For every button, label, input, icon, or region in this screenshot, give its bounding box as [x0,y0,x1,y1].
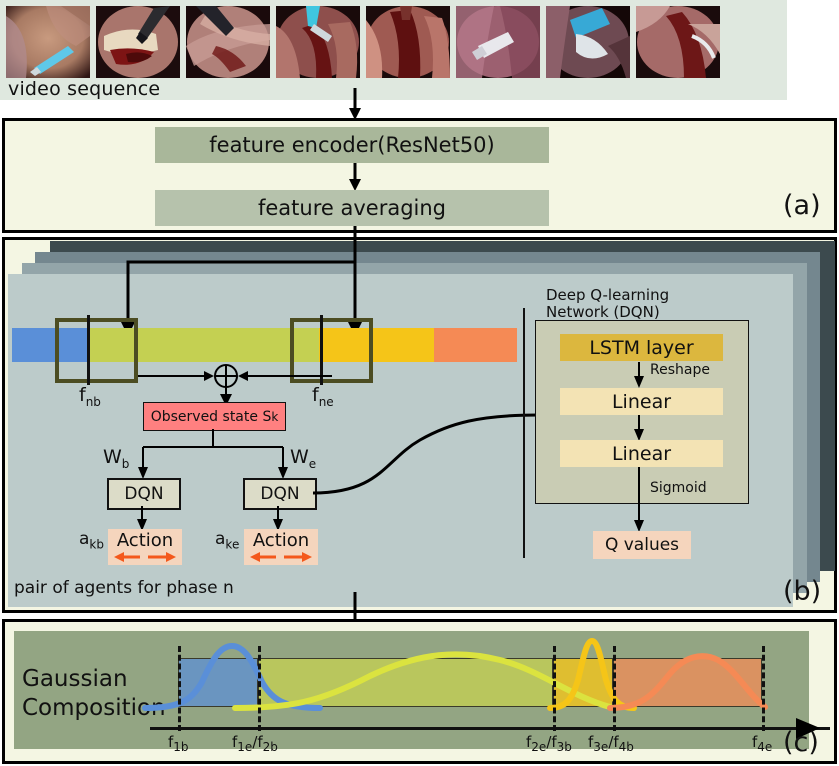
tick-line-f1e-f2b [258,646,261,731]
tick-label-f1b: f1b [168,733,189,754]
tick-line-f2e-f3b [553,646,556,731]
observed-state-text: Observed state S [151,409,272,425]
figure-canvas: video sequence feature encoder(ResNet50)… [0,0,839,766]
dqn-title-line1: Deep Q-learning [546,287,669,304]
feature-averaging-box: feature averaging [155,190,549,226]
dqn-title-line2: Network (DQN) [546,304,669,321]
linear-layer-1-box: Linear [560,388,723,415]
action-arrows-begin [112,551,178,563]
tick-label-f1e-sub: 1e [237,740,252,754]
tick-label-f2e-f3b: f2e/f3b [526,733,572,754]
video-frame-4 [276,6,360,78]
feature-encoder-box: feature encoder(ResNet50) [155,127,549,163]
tick-label-f2b-sub: 2b [263,740,278,754]
q-values-box: Q values [593,531,691,559]
tick-label-f2e-sub: 2e [531,740,546,754]
panel-b-divider [523,308,525,558]
video-frame-1 [6,6,90,78]
video-frame-7 [546,6,630,78]
reshape-label: Reshape [650,362,710,378]
panel-b-tag: (b) [783,576,821,607]
action-label-begin: Action [117,530,173,551]
lstm-layer-box: LSTM layer [560,334,723,361]
dqn-network-title: Deep Q-learning Network (DQN) [546,287,669,322]
arrow-lstm-to-linear1 [633,362,651,388]
tick-label-f3e-sub: 3e [593,740,608,754]
tick-label-f4e-sub: 4e [757,740,772,754]
observed-state-sub: k [271,410,278,424]
pair-of-agents-label: pair of agents for phase n [14,578,234,598]
video-frame-5 [366,6,450,78]
label-a-ke-sub: ke [225,537,239,551]
action-box-end[interactable]: Action [244,529,318,565]
frame-marker-nb [87,315,90,385]
label-w-b-sub: b [122,457,130,471]
tick-line-f1b [178,646,181,731]
tick-label-f4b-sub: 4b [619,740,634,754]
action-box-begin[interactable]: Action [108,529,182,565]
composition-axis [150,727,830,730]
panel-a-tag: (a) [783,190,821,221]
branch-to-dqns [107,429,317,481]
label-w-b: Wb [103,446,129,471]
tick-label-f3b-sub: 3b [557,740,572,754]
action-label-end: Action [253,530,309,551]
video-frame-6 [456,6,540,78]
video-sequence-strip: video sequence [0,0,787,100]
timeline-segment-phase4 [434,328,517,362]
label-a-ke: ake [215,529,239,551]
video-frame-3 [186,6,270,78]
linear-layer-2-box: Linear [560,440,723,467]
label-f-nb-sub: nb [86,395,101,409]
action-arrows-end [248,551,314,563]
tick-label-f1b-sub: 1b [173,740,188,754]
video-frame-8 [636,6,720,78]
arrow-encoder-to-averaging [340,163,370,191]
tick-line-f3e-f4b [613,646,616,731]
tick-label-f4e: f4e [752,733,772,754]
video-sequence-label: video sequence [8,78,160,100]
label-f-nb: fnb [79,384,101,409]
label-a-kb-sub: kb [89,537,104,551]
tick-line-f4e [762,646,765,731]
tick-label-f1e-f2b: f1e/f2b [232,733,278,754]
dqn-detail-connector [310,405,540,500]
video-frame-2 [96,6,180,78]
selection-window-begin[interactable] [55,318,138,383]
arrow-linear1-to-linear2 [633,415,651,441]
observed-state-box: Observed state Sk [143,402,286,431]
tick-label-f3e-f4b: f3e/f4b [588,733,634,754]
panel-c-tag: (c) [783,727,819,758]
gaussian-phase-1 [145,646,320,708]
label-a-kb: akb [79,529,104,551]
arrow-video-to-encoder [340,88,370,120]
gaussian-phase-4 [610,656,765,708]
arrow-linear2-to-qvalues [633,467,651,533]
gaussian-curves [140,638,830,718]
sigmoid-label: Sigmoid [650,480,707,496]
